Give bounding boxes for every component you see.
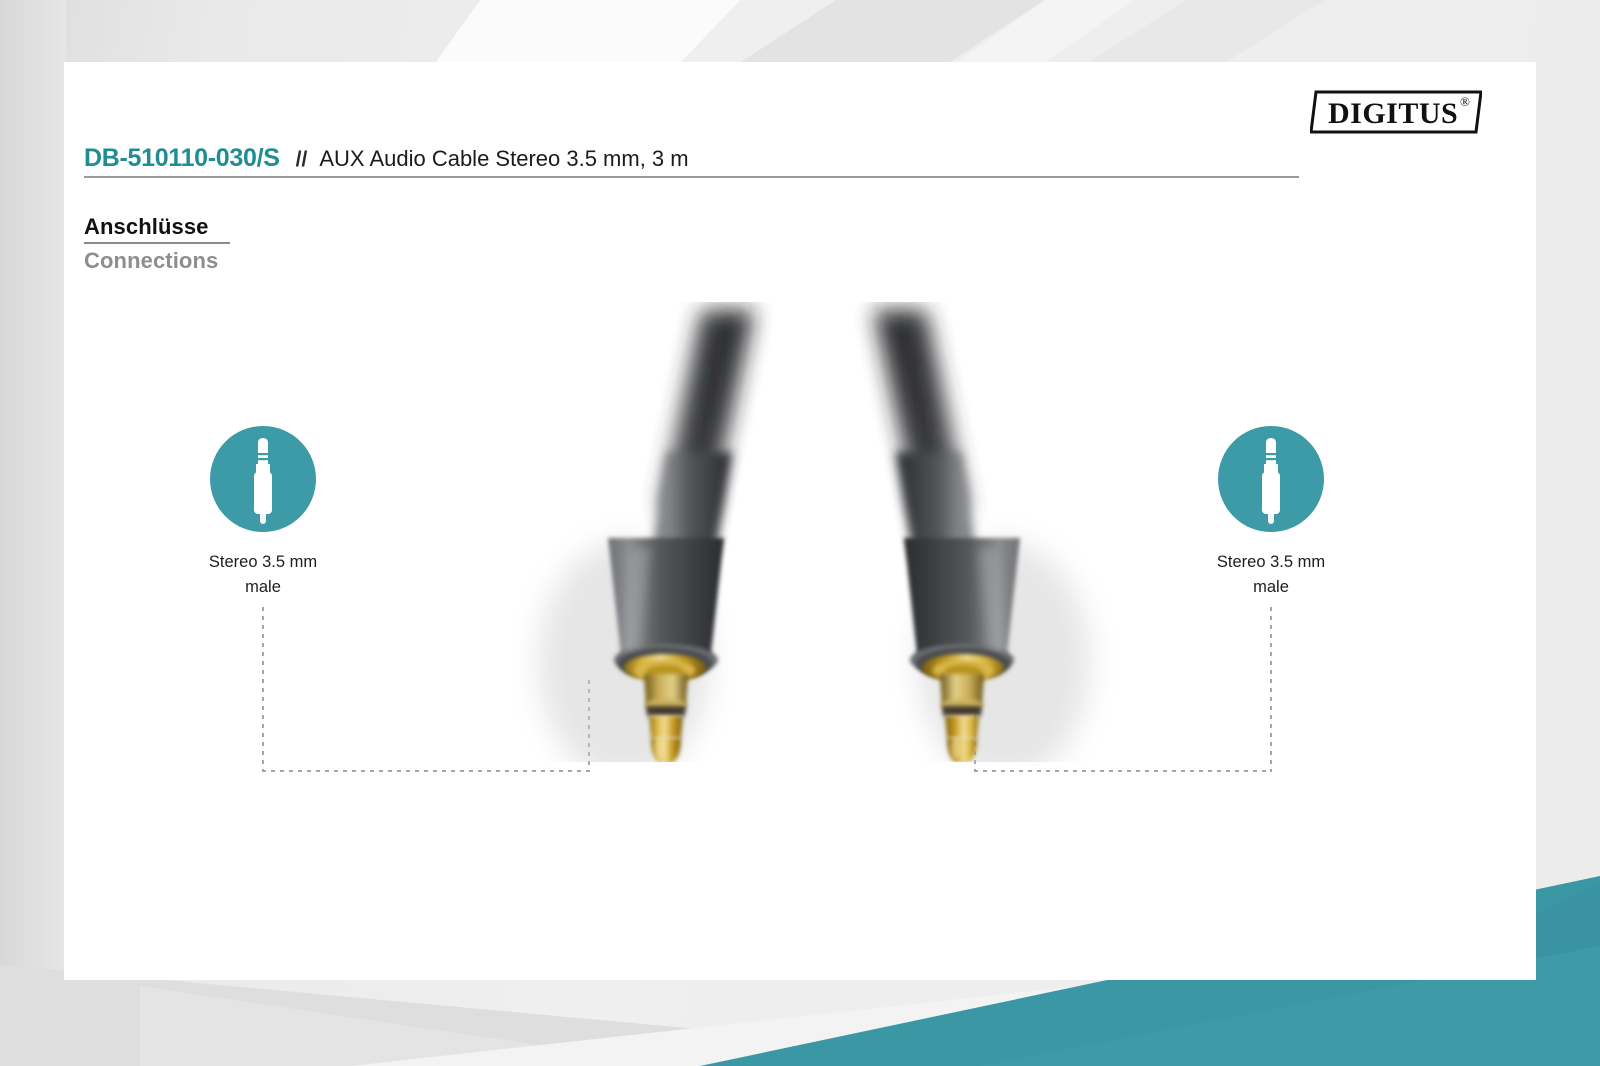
product-photo xyxy=(464,302,1144,762)
digitus-logo: DIGITUS ® xyxy=(1310,88,1482,136)
connector-label-right-line1: Stereo 3.5 mm xyxy=(1217,553,1325,571)
connector-badge-right xyxy=(1218,426,1324,532)
section-heading-underline xyxy=(84,242,230,244)
connector-badge-left xyxy=(210,426,316,532)
stereo-jack-35mm-icon xyxy=(1240,434,1302,524)
connector-photo-left xyxy=(504,302,834,762)
leader-left-horizontal xyxy=(262,770,589,772)
section-heading-en: Connections xyxy=(84,248,218,274)
product-title-row: DB-510110-030/S // AUX Audio Cable Stere… xyxy=(84,144,1299,173)
product-sku: DB-510110-030/S xyxy=(84,144,280,173)
connector-label-left-line2: male xyxy=(153,575,373,600)
stereo-jack-35mm-icon xyxy=(232,434,294,524)
connector-label-left: Stereo 3.5 mm male xyxy=(153,550,373,600)
leader-left-vertical-outer xyxy=(262,607,264,772)
leader-right-vertical-outer xyxy=(1270,607,1272,772)
title-divider xyxy=(84,176,1299,178)
connector-label-left-line1: Stereo 3.5 mm xyxy=(209,553,317,571)
connector-photo-right xyxy=(794,302,1124,762)
digitus-logo-trademark: ® xyxy=(1460,94,1470,109)
digitus-logo-text: DIGITUS xyxy=(1328,97,1458,130)
connector-label-right-line2: male xyxy=(1161,575,1381,600)
content-card: DIGITUS ® DB-510110-030/S // AUX Audio C… xyxy=(64,62,1536,980)
product-name: AUX Audio Cable Stereo 3.5 mm, 3 m xyxy=(319,146,688,172)
leader-right-horizontal xyxy=(974,770,1271,772)
connector-label-right: Stereo 3.5 mm male xyxy=(1161,550,1381,600)
section-heading-de: Anschlüsse xyxy=(84,214,209,240)
title-separator: // xyxy=(296,148,308,172)
page-canvas: DIGITUS ® DB-510110-030/S // AUX Audio C… xyxy=(0,0,1600,1066)
